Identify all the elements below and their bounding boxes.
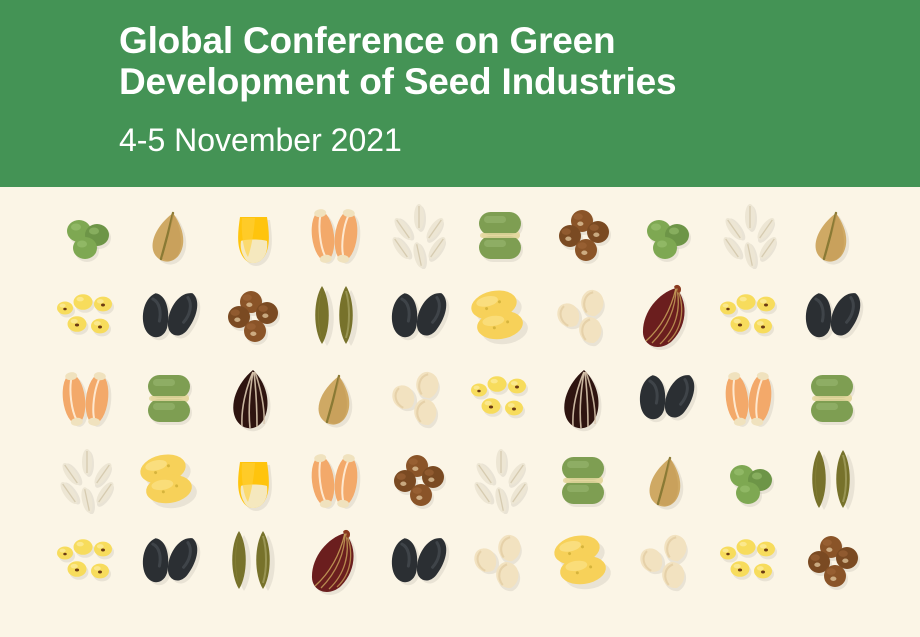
seed-cell-r5-c7	[543, 521, 626, 603]
seed-cell-r1-c1	[46, 195, 129, 277]
seed-cell-r1-c5	[377, 195, 460, 277]
green-fava-beans-icon	[802, 368, 864, 430]
yellow-soybeans-icon	[715, 531, 785, 593]
black-beans-icon	[634, 368, 700, 430]
seed-cell-r2-c2	[129, 277, 212, 359]
brown-round-seeds-icon	[387, 450, 451, 512]
seed-cell-r1-c8	[626, 195, 709, 277]
sunflower-seed-icon	[555, 366, 613, 432]
seed-cell-r3-c6	[460, 358, 543, 440]
seed-cell-r1-c6	[460, 195, 543, 277]
seed-cell-r2-c5	[377, 277, 460, 359]
conference-banner: Global Conference on Green Development o…	[0, 0, 920, 637]
seed-cell-r2-c4	[294, 277, 377, 359]
yellow-potatoes-icon	[549, 531, 619, 593]
brown-round-seeds-icon	[221, 286, 285, 348]
black-beans-icon	[137, 531, 203, 593]
seed-cell-r5-c9	[708, 521, 791, 603]
seed-cell-r2-c8	[626, 277, 709, 359]
corn-kernel-icon	[222, 205, 284, 267]
seed-cell-r5-c1	[46, 521, 129, 603]
seed-cell-r5-c6	[460, 521, 543, 603]
oat-spray-icon	[715, 203, 785, 269]
seed-cell-r1-c2	[129, 195, 212, 277]
seed-cell-r5-c5	[377, 521, 460, 603]
black-beans-icon	[800, 286, 866, 348]
sunflower-seed-icon	[224, 366, 282, 432]
seed-cell-r3-c8	[626, 358, 709, 440]
brown-round-seeds-icon	[801, 531, 865, 593]
seed-cell-r4-c7	[543, 440, 626, 522]
yellow-potatoes-icon	[135, 450, 205, 512]
seed-cell-r5-c4	[294, 521, 377, 603]
seed-cell-r3-c2	[129, 358, 212, 440]
yellow-soybeans-icon	[715, 286, 785, 348]
cocoa-pod-icon	[305, 528, 367, 596]
seed-cell-r5-c2	[129, 521, 212, 603]
seed-cell-r1-c7	[543, 195, 626, 277]
wheat-grain-pair-icon	[714, 368, 786, 430]
seed-cell-r4-c9	[708, 440, 791, 522]
seed-cell-r3-c7	[543, 358, 626, 440]
seed-cell-r2-c9	[708, 277, 791, 359]
seed-cell-r4-c5	[377, 440, 460, 522]
seed-cell-r2-c1	[46, 277, 129, 359]
seed-cell-r3-c5	[377, 358, 460, 440]
seed-cell-r4-c3	[212, 440, 295, 522]
cocoa-pod-icon	[636, 283, 698, 351]
banner-header: Global Conference on Green Development o…	[0, 0, 920, 187]
black-beans-icon	[137, 286, 203, 348]
yellow-soybeans-icon	[52, 286, 122, 348]
oat-spray-icon	[466, 448, 536, 514]
seed-cell-r1-c4	[294, 195, 377, 277]
green-peas-icon	[636, 205, 698, 267]
seed-cell-r2-c6	[460, 277, 543, 359]
black-beans-icon	[386, 531, 452, 593]
yellow-soybeans-icon	[466, 368, 536, 430]
seed-cell-r2-c3	[212, 277, 295, 359]
seed-cell-r1-c3	[212, 195, 295, 277]
olive-seeds-icon	[220, 528, 286, 596]
seed-cell-r3-c3	[212, 358, 295, 440]
green-fava-beans-icon	[553, 450, 615, 512]
seed-cell-r2-c10	[791, 277, 874, 359]
seed-cell-r3-c9	[708, 358, 791, 440]
corn-kernel-icon	[222, 450, 284, 512]
chickpeas-icon	[551, 286, 617, 348]
chickpeas-icon	[634, 531, 700, 593]
green-fava-beans-icon	[470, 205, 532, 267]
seed-cell-r4-c2	[129, 440, 212, 522]
black-beans-icon	[386, 286, 452, 348]
event-dates: 4-5 November 2021	[119, 123, 920, 158]
yellow-soybeans-icon	[52, 531, 122, 593]
wheat-grain-icon	[802, 205, 864, 267]
seed-cell-r1-c10	[791, 195, 874, 277]
wheat-grain-icon	[139, 205, 201, 267]
seed-cell-r4-c8	[626, 440, 709, 522]
page-title: Global Conference on Green Development o…	[119, 20, 920, 103]
seed-cell-r3-c1	[46, 358, 129, 440]
seed-cell-r4-c1	[46, 440, 129, 522]
olive-seeds-icon	[800, 447, 866, 515]
brown-round-seeds-icon	[552, 205, 616, 267]
wheat-grain-pair-icon	[300, 205, 372, 267]
seed-cell-r3-c4	[294, 358, 377, 440]
green-fava-beans-icon	[139, 368, 201, 430]
seed-cell-r3-c10	[791, 358, 874, 440]
olive-seeds-icon	[303, 283, 369, 351]
yellow-potatoes-icon	[466, 286, 536, 348]
seed-cell-r4-c6	[460, 440, 543, 522]
chickpeas-icon	[468, 531, 534, 593]
seed-cell-r2-c7	[543, 277, 626, 359]
seed-cell-r4-c10	[791, 440, 874, 522]
seed-cell-r5-c8	[626, 521, 709, 603]
wheat-grain-pair-icon	[51, 368, 123, 430]
wheat-grain-pair-icon	[300, 450, 372, 512]
wheat-grain-icon	[636, 450, 698, 512]
seed-cell-r5-c10	[791, 521, 874, 603]
chickpeas-icon	[386, 368, 452, 430]
seed-cell-r5-c3	[212, 521, 295, 603]
wheat-grain-icon	[305, 368, 367, 430]
oat-spray-icon	[52, 448, 122, 514]
green-peas-icon	[56, 205, 118, 267]
seed-cell-r4-c4	[294, 440, 377, 522]
oat-spray-icon	[384, 203, 454, 269]
seed-illustration-grid	[0, 187, 920, 637]
green-peas-icon	[719, 450, 781, 512]
seed-cell-r1-c9	[708, 195, 791, 277]
